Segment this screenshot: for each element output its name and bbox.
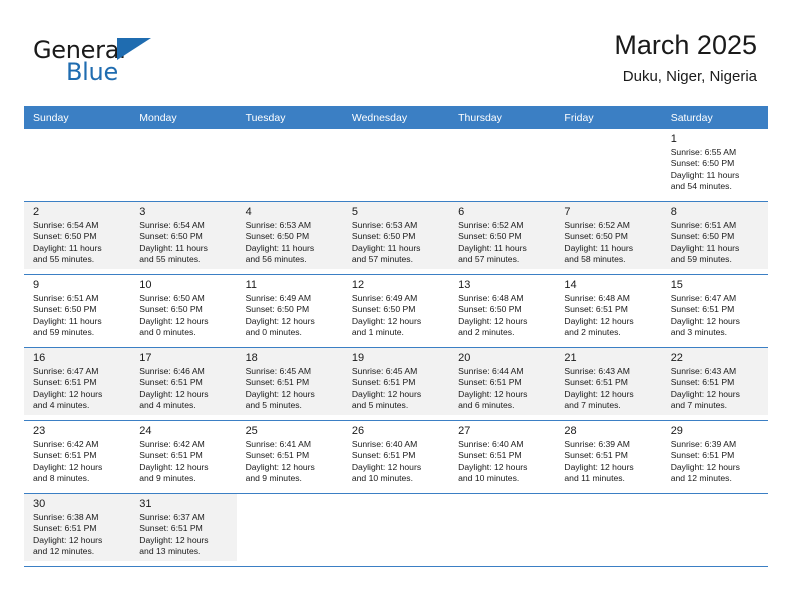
day-cell-content xyxy=(343,494,449,561)
weekday-header-saturday: Saturday xyxy=(662,106,768,129)
calendar-day-cell[interactable]: 20Sunrise: 6:44 AMSunset: 6:51 PMDayligh… xyxy=(449,348,555,421)
weekday-header-friday: Friday xyxy=(555,106,661,129)
weekday-header-thursday: Thursday xyxy=(449,106,555,129)
calendar-day-cell-empty xyxy=(343,129,449,202)
day-sunrise-text: Sunrise: 6:40 AM xyxy=(458,439,549,450)
day-sunrise-text: Sunrise: 6:41 AM xyxy=(246,439,337,450)
day-daylight-text: and 8 minutes. xyxy=(33,473,124,484)
day-sun-info: Sunrise: 6:55 AMSunset: 6:50 PMDaylight:… xyxy=(671,147,762,193)
day-daylight-text: Daylight: 11 hours xyxy=(139,243,230,254)
day-sunrise-text: Sunrise: 6:43 AM xyxy=(564,366,655,377)
day-daylight-text: Daylight: 12 hours xyxy=(139,535,230,546)
day-daylight-text: and 4 minutes. xyxy=(139,400,230,411)
day-cell-content: 1Sunrise: 6:55 AMSunset: 6:50 PMDaylight… xyxy=(662,129,768,196)
day-cell-content: 30Sunrise: 6:38 AMSunset: 6:51 PMDayligh… xyxy=(24,494,130,561)
day-sun-info: Sunrise: 6:37 AMSunset: 6:51 PMDaylight:… xyxy=(139,512,230,558)
day-sunrise-text: Sunrise: 6:40 AM xyxy=(352,439,443,450)
day-sunrise-text: Sunrise: 6:53 AM xyxy=(246,220,337,231)
day-cell-content: 2Sunrise: 6:54 AMSunset: 6:50 PMDaylight… xyxy=(24,202,130,269)
day-number: 29 xyxy=(671,424,762,438)
day-cell-content: 28Sunrise: 6:39 AMSunset: 6:51 PMDayligh… xyxy=(555,421,661,488)
day-sunrise-text: Sunrise: 6:46 AM xyxy=(139,366,230,377)
day-daylight-text: and 5 minutes. xyxy=(246,400,337,411)
day-daylight-text: and 0 minutes. xyxy=(246,327,337,338)
day-daylight-text: Daylight: 12 hours xyxy=(564,462,655,473)
day-sun-info: Sunrise: 6:53 AMSunset: 6:50 PMDaylight:… xyxy=(246,220,337,266)
calendar-day-cell-empty xyxy=(237,494,343,567)
calendar-week-row: 2Sunrise: 6:54 AMSunset: 6:50 PMDaylight… xyxy=(24,202,768,275)
day-sunrise-text: Sunrise: 6:53 AM xyxy=(352,220,443,231)
day-number: 16 xyxy=(33,351,124,365)
day-daylight-text: and 10 minutes. xyxy=(352,473,443,484)
day-sunset-text: Sunset: 6:51 PM xyxy=(671,450,762,461)
day-number: 11 xyxy=(246,278,337,292)
calendar-day-cell[interactable]: 10Sunrise: 6:50 AMSunset: 6:50 PMDayligh… xyxy=(130,275,236,348)
calendar-week-row: 1Sunrise: 6:55 AMSunset: 6:50 PMDaylight… xyxy=(24,129,768,202)
logo-triangle-icon xyxy=(117,38,151,60)
day-daylight-text: and 10 minutes. xyxy=(458,473,549,484)
calendar-day-cell-empty xyxy=(449,494,555,567)
day-daylight-text: Daylight: 12 hours xyxy=(671,316,762,327)
day-cell-content: 19Sunrise: 6:45 AMSunset: 6:51 PMDayligh… xyxy=(343,348,449,415)
day-sun-info: Sunrise: 6:44 AMSunset: 6:51 PMDaylight:… xyxy=(458,366,549,412)
day-sunset-text: Sunset: 6:50 PM xyxy=(33,231,124,242)
day-daylight-text: and 5 minutes. xyxy=(352,400,443,411)
day-cell-content: 7Sunrise: 6:52 AMSunset: 6:50 PMDaylight… xyxy=(555,202,661,269)
day-cell-content: 20Sunrise: 6:44 AMSunset: 6:51 PMDayligh… xyxy=(449,348,555,415)
calendar-day-cell[interactable]: 4Sunrise: 6:53 AMSunset: 6:50 PMDaylight… xyxy=(237,202,343,275)
day-cell-content: 10Sunrise: 6:50 AMSunset: 6:50 PMDayligh… xyxy=(130,275,236,342)
day-sun-info: Sunrise: 6:49 AMSunset: 6:50 PMDaylight:… xyxy=(352,293,443,339)
day-daylight-text: Daylight: 12 hours xyxy=(671,389,762,400)
day-sun-info: Sunrise: 6:54 AMSunset: 6:50 PMDaylight:… xyxy=(33,220,124,266)
day-sunset-text: Sunset: 6:51 PM xyxy=(564,304,655,315)
calendar-day-cell[interactable]: 6Sunrise: 6:52 AMSunset: 6:50 PMDaylight… xyxy=(449,202,555,275)
day-sunrise-text: Sunrise: 6:49 AM xyxy=(352,293,443,304)
day-sunrise-text: Sunrise: 6:39 AM xyxy=(564,439,655,450)
calendar-day-cell[interactable]: 3Sunrise: 6:54 AMSunset: 6:50 PMDaylight… xyxy=(130,202,236,275)
day-sunset-text: Sunset: 6:50 PM xyxy=(352,231,443,242)
day-daylight-text: Daylight: 12 hours xyxy=(671,462,762,473)
day-cell-content: 22Sunrise: 6:43 AMSunset: 6:51 PMDayligh… xyxy=(662,348,768,415)
day-daylight-text: and 9 minutes. xyxy=(139,473,230,484)
calendar-week-row: 30Sunrise: 6:38 AMSunset: 6:51 PMDayligh… xyxy=(24,494,768,567)
calendar-day-cell-empty xyxy=(662,494,768,567)
day-cell-content xyxy=(662,494,768,561)
day-number: 6 xyxy=(458,205,549,219)
logo-text-blue: Blue xyxy=(66,58,118,86)
day-sunrise-text: Sunrise: 6:47 AM xyxy=(33,366,124,377)
day-daylight-text: Daylight: 11 hours xyxy=(671,170,762,181)
day-cell-content: 11Sunrise: 6:49 AMSunset: 6:50 PMDayligh… xyxy=(237,275,343,342)
day-daylight-text: Daylight: 12 hours xyxy=(33,535,124,546)
day-sunrise-text: Sunrise: 6:54 AM xyxy=(139,220,230,231)
day-cell-content xyxy=(449,129,555,196)
day-sun-info: Sunrise: 6:51 AMSunset: 6:50 PMDaylight:… xyxy=(671,220,762,266)
calendar-day-cell[interactable]: 27Sunrise: 6:40 AMSunset: 6:51 PMDayligh… xyxy=(449,421,555,494)
day-number: 20 xyxy=(458,351,549,365)
day-sun-info: Sunrise: 6:46 AMSunset: 6:51 PMDaylight:… xyxy=(139,366,230,412)
day-cell-content: 14Sunrise: 6:48 AMSunset: 6:51 PMDayligh… xyxy=(555,275,661,342)
calendar-day-cell[interactable]: 13Sunrise: 6:48 AMSunset: 6:50 PMDayligh… xyxy=(449,275,555,348)
day-sunrise-text: Sunrise: 6:52 AM xyxy=(458,220,549,231)
day-sun-info: Sunrise: 6:38 AMSunset: 6:51 PMDaylight:… xyxy=(33,512,124,558)
day-sunrise-text: Sunrise: 6:44 AM xyxy=(458,366,549,377)
day-number: 18 xyxy=(246,351,337,365)
day-sunset-text: Sunset: 6:51 PM xyxy=(33,450,124,461)
day-daylight-text: and 12 minutes. xyxy=(671,473,762,484)
calendar-day-cell[interactable]: 16Sunrise: 6:47 AMSunset: 6:51 PMDayligh… xyxy=(24,348,130,421)
day-sunset-text: Sunset: 6:50 PM xyxy=(671,158,762,169)
calendar-day-cell[interactable]: 26Sunrise: 6:40 AMSunset: 6:51 PMDayligh… xyxy=(343,421,449,494)
day-daylight-text: Daylight: 12 hours xyxy=(246,389,337,400)
weekday-header-wednesday: Wednesday xyxy=(343,106,449,129)
day-cell-content: 15Sunrise: 6:47 AMSunset: 6:51 PMDayligh… xyxy=(662,275,768,342)
day-sunset-text: Sunset: 6:51 PM xyxy=(246,450,337,461)
day-cell-content: 4Sunrise: 6:53 AMSunset: 6:50 PMDaylight… xyxy=(237,202,343,269)
title-block: March 2025 Duku, Niger, Nigeria xyxy=(614,28,757,88)
day-sun-info: Sunrise: 6:40 AMSunset: 6:51 PMDaylight:… xyxy=(458,439,549,485)
day-sunset-text: Sunset: 6:50 PM xyxy=(139,304,230,315)
calendar-day-cell[interactable]: 28Sunrise: 6:39 AMSunset: 6:51 PMDayligh… xyxy=(555,421,661,494)
day-daylight-text: Daylight: 12 hours xyxy=(352,462,443,473)
calendar-day-cell-empty xyxy=(555,129,661,202)
day-daylight-text: and 7 minutes. xyxy=(564,400,655,411)
calendar-week-row: 9Sunrise: 6:51 AMSunset: 6:50 PMDaylight… xyxy=(24,275,768,348)
page-header: General Blue March 2025 Duku, Niger, Nig… xyxy=(33,28,757,100)
day-cell-content: 13Sunrise: 6:48 AMSunset: 6:50 PMDayligh… xyxy=(449,275,555,342)
day-sunset-text: Sunset: 6:51 PM xyxy=(352,450,443,461)
day-daylight-text: and 58 minutes. xyxy=(564,254,655,265)
day-number: 21 xyxy=(564,351,655,365)
day-cell-content: 9Sunrise: 6:51 AMSunset: 6:50 PMDaylight… xyxy=(24,275,130,342)
calendar-day-cell[interactable]: 31Sunrise: 6:37 AMSunset: 6:51 PMDayligh… xyxy=(130,494,236,567)
day-daylight-text: Daylight: 12 hours xyxy=(458,462,549,473)
calendar-day-cell[interactable]: 1Sunrise: 6:55 AMSunset: 6:50 PMDaylight… xyxy=(662,129,768,202)
calendar-day-cell[interactable]: 22Sunrise: 6:43 AMSunset: 6:51 PMDayligh… xyxy=(662,348,768,421)
calendar-day-cell[interactable]: 5Sunrise: 6:53 AMSunset: 6:50 PMDaylight… xyxy=(343,202,449,275)
day-number: 9 xyxy=(33,278,124,292)
day-sun-info: Sunrise: 6:53 AMSunset: 6:50 PMDaylight:… xyxy=(352,220,443,266)
page-title: March 2025 xyxy=(614,28,757,62)
day-daylight-text: and 2 minutes. xyxy=(458,327,549,338)
day-sunrise-text: Sunrise: 6:45 AM xyxy=(246,366,337,377)
day-sunrise-text: Sunrise: 6:49 AM xyxy=(246,293,337,304)
day-cell-content: 27Sunrise: 6:40 AMSunset: 6:51 PMDayligh… xyxy=(449,421,555,488)
day-sunset-text: Sunset: 6:51 PM xyxy=(33,523,124,534)
day-number: 26 xyxy=(352,424,443,438)
calendar-day-cell[interactable]: 12Sunrise: 6:49 AMSunset: 6:50 PMDayligh… xyxy=(343,275,449,348)
day-cell-content xyxy=(555,494,661,561)
day-cell-content: 29Sunrise: 6:39 AMSunset: 6:51 PMDayligh… xyxy=(662,421,768,488)
day-sunrise-text: Sunrise: 6:38 AM xyxy=(33,512,124,523)
weekday-header-sunday: Sunday xyxy=(24,106,130,129)
day-sunset-text: Sunset: 6:50 PM xyxy=(352,304,443,315)
day-daylight-text: and 2 minutes. xyxy=(564,327,655,338)
day-sun-info: Sunrise: 6:39 AMSunset: 6:51 PMDaylight:… xyxy=(671,439,762,485)
day-daylight-text: Daylight: 12 hours xyxy=(139,389,230,400)
day-sunset-text: Sunset: 6:51 PM xyxy=(458,450,549,461)
calendar-day-cell-empty xyxy=(237,129,343,202)
day-daylight-text: Daylight: 12 hours xyxy=(352,389,443,400)
day-cell-content xyxy=(343,129,449,196)
day-sun-info: Sunrise: 6:45 AMSunset: 6:51 PMDaylight:… xyxy=(246,366,337,412)
day-number: 30 xyxy=(33,497,124,511)
day-sun-info: Sunrise: 6:43 AMSunset: 6:51 PMDaylight:… xyxy=(671,366,762,412)
day-cell-content: 26Sunrise: 6:40 AMSunset: 6:51 PMDayligh… xyxy=(343,421,449,488)
day-cell-content: 24Sunrise: 6:42 AMSunset: 6:51 PMDayligh… xyxy=(130,421,236,488)
day-sunrise-text: Sunrise: 6:37 AM xyxy=(139,512,230,523)
calendar-day-cell-empty xyxy=(343,494,449,567)
day-sun-info: Sunrise: 6:48 AMSunset: 6:50 PMDaylight:… xyxy=(458,293,549,339)
day-cell-content xyxy=(24,129,130,196)
day-sunset-text: Sunset: 6:50 PM xyxy=(33,304,124,315)
day-daylight-text: Daylight: 11 hours xyxy=(564,243,655,254)
day-sunrise-text: Sunrise: 6:42 AM xyxy=(33,439,124,450)
day-sunset-text: Sunset: 6:51 PM xyxy=(246,377,337,388)
day-sunset-text: Sunset: 6:51 PM xyxy=(564,377,655,388)
day-sun-info: Sunrise: 6:45 AMSunset: 6:51 PMDaylight:… xyxy=(352,366,443,412)
day-sun-info: Sunrise: 6:42 AMSunset: 6:51 PMDaylight:… xyxy=(33,439,124,485)
day-daylight-text: Daylight: 11 hours xyxy=(33,243,124,254)
day-daylight-text: Daylight: 12 hours xyxy=(458,316,549,327)
day-number: 7 xyxy=(564,205,655,219)
calendar-day-cell[interactable]: 19Sunrise: 6:45 AMSunset: 6:51 PMDayligh… xyxy=(343,348,449,421)
day-daylight-text: Daylight: 12 hours xyxy=(352,316,443,327)
day-sunset-text: Sunset: 6:51 PM xyxy=(671,377,762,388)
calendar-day-cell[interactable]: 15Sunrise: 6:47 AMSunset: 6:51 PMDayligh… xyxy=(662,275,768,348)
calendar-day-cell[interactable]: 8Sunrise: 6:51 AMSunset: 6:50 PMDaylight… xyxy=(662,202,768,275)
day-sun-info: Sunrise: 6:48 AMSunset: 6:51 PMDaylight:… xyxy=(564,293,655,339)
day-sun-info: Sunrise: 6:40 AMSunset: 6:51 PMDaylight:… xyxy=(352,439,443,485)
calendar-day-cell[interactable]: 30Sunrise: 6:38 AMSunset: 6:51 PMDayligh… xyxy=(24,494,130,567)
day-number: 5 xyxy=(352,205,443,219)
day-daylight-text: and 1 minute. xyxy=(352,327,443,338)
day-number: 19 xyxy=(352,351,443,365)
day-daylight-text: and 55 minutes. xyxy=(139,254,230,265)
day-daylight-text: and 12 minutes. xyxy=(33,546,124,557)
calendar-week-row: 23Sunrise: 6:42 AMSunset: 6:51 PMDayligh… xyxy=(24,421,768,494)
day-number: 23 xyxy=(33,424,124,438)
day-daylight-text: and 4 minutes. xyxy=(33,400,124,411)
calendar-day-cell[interactable]: 9Sunrise: 6:51 AMSunset: 6:50 PMDaylight… xyxy=(24,275,130,348)
day-daylight-text: and 54 minutes. xyxy=(671,181,762,192)
calendar-page: General Blue March 2025 Duku, Niger, Nig… xyxy=(0,0,792,612)
day-sunset-text: Sunset: 6:50 PM xyxy=(139,231,230,242)
day-sun-info: Sunrise: 6:50 AMSunset: 6:50 PMDaylight:… xyxy=(139,293,230,339)
calendar-day-cell[interactable]: 7Sunrise: 6:52 AMSunset: 6:50 PMDaylight… xyxy=(555,202,661,275)
day-sunset-text: Sunset: 6:50 PM xyxy=(564,231,655,242)
day-sun-info: Sunrise: 6:47 AMSunset: 6:51 PMDaylight:… xyxy=(671,293,762,339)
day-sunrise-text: Sunrise: 6:50 AM xyxy=(139,293,230,304)
day-cell-content: 8Sunrise: 6:51 AMSunset: 6:50 PMDaylight… xyxy=(662,202,768,269)
day-cell-content xyxy=(555,129,661,196)
day-cell-content: 25Sunrise: 6:41 AMSunset: 6:51 PMDayligh… xyxy=(237,421,343,488)
day-number: 24 xyxy=(139,424,230,438)
calendar-day-cell[interactable]: 21Sunrise: 6:43 AMSunset: 6:51 PMDayligh… xyxy=(555,348,661,421)
day-sun-info: Sunrise: 6:52 AMSunset: 6:50 PMDaylight:… xyxy=(458,220,549,266)
day-daylight-text: Daylight: 12 hours xyxy=(33,462,124,473)
day-sunrise-text: Sunrise: 6:47 AM xyxy=(671,293,762,304)
day-cell-content: 3Sunrise: 6:54 AMSunset: 6:50 PMDaylight… xyxy=(130,202,236,269)
day-daylight-text: Daylight: 11 hours xyxy=(246,243,337,254)
day-cell-content: 12Sunrise: 6:49 AMSunset: 6:50 PMDayligh… xyxy=(343,275,449,342)
calendar-day-cell[interactable]: 14Sunrise: 6:48 AMSunset: 6:51 PMDayligh… xyxy=(555,275,661,348)
calendar-day-cell[interactable]: 11Sunrise: 6:49 AMSunset: 6:50 PMDayligh… xyxy=(237,275,343,348)
calendar-day-cell[interactable]: 24Sunrise: 6:42 AMSunset: 6:51 PMDayligh… xyxy=(130,421,236,494)
calendar-day-cell[interactable]: 29Sunrise: 6:39 AMSunset: 6:51 PMDayligh… xyxy=(662,421,768,494)
day-cell-content: 5Sunrise: 6:53 AMSunset: 6:50 PMDaylight… xyxy=(343,202,449,269)
calendar-day-cell[interactable]: 18Sunrise: 6:45 AMSunset: 6:51 PMDayligh… xyxy=(237,348,343,421)
day-daylight-text: Daylight: 11 hours xyxy=(33,316,124,327)
day-number: 4 xyxy=(246,205,337,219)
day-daylight-text: Daylight: 12 hours xyxy=(246,462,337,473)
day-daylight-text: Daylight: 12 hours xyxy=(246,316,337,327)
day-cell-content: 18Sunrise: 6:45 AMSunset: 6:51 PMDayligh… xyxy=(237,348,343,415)
day-daylight-text: Daylight: 12 hours xyxy=(139,462,230,473)
calendar-day-cell[interactable]: 23Sunrise: 6:42 AMSunset: 6:51 PMDayligh… xyxy=(24,421,130,494)
day-sun-info: Sunrise: 6:41 AMSunset: 6:51 PMDaylight:… xyxy=(246,439,337,485)
day-number: 22 xyxy=(671,351,762,365)
calendar-week-row: 16Sunrise: 6:47 AMSunset: 6:51 PMDayligh… xyxy=(24,348,768,421)
day-sunset-text: Sunset: 6:51 PM xyxy=(139,377,230,388)
day-daylight-text: Daylight: 12 hours xyxy=(458,389,549,400)
day-sunset-text: Sunset: 6:50 PM xyxy=(458,231,549,242)
page-subtitle-location: Duku, Niger, Nigeria xyxy=(614,66,757,88)
day-number: 2 xyxy=(33,205,124,219)
day-sun-info: Sunrise: 6:51 AMSunset: 6:50 PMDaylight:… xyxy=(33,293,124,339)
day-sunset-text: Sunset: 6:51 PM xyxy=(139,523,230,534)
day-sun-info: Sunrise: 6:47 AMSunset: 6:51 PMDaylight:… xyxy=(33,366,124,412)
day-number: 15 xyxy=(671,278,762,292)
day-sunrise-text: Sunrise: 6:48 AM xyxy=(564,293,655,304)
calendar-day-cell[interactable]: 17Sunrise: 6:46 AMSunset: 6:51 PMDayligh… xyxy=(130,348,236,421)
day-cell-content xyxy=(449,494,555,561)
day-sunset-text: Sunset: 6:50 PM xyxy=(671,231,762,242)
day-cell-content xyxy=(237,129,343,196)
day-sunrise-text: Sunrise: 6:52 AM xyxy=(564,220,655,231)
calendar-body: 1Sunrise: 6:55 AMSunset: 6:50 PMDaylight… xyxy=(24,129,768,567)
weekday-header-monday: Monday xyxy=(130,106,236,129)
day-cell-content: 31Sunrise: 6:37 AMSunset: 6:51 PMDayligh… xyxy=(130,494,236,561)
calendar-day-cell[interactable]: 2Sunrise: 6:54 AMSunset: 6:50 PMDaylight… xyxy=(24,202,130,275)
day-sunrise-text: Sunrise: 6:54 AM xyxy=(33,220,124,231)
day-sunset-text: Sunset: 6:51 PM xyxy=(458,377,549,388)
day-number: 8 xyxy=(671,205,762,219)
day-cell-content: 23Sunrise: 6:42 AMSunset: 6:51 PMDayligh… xyxy=(24,421,130,488)
day-sunrise-text: Sunrise: 6:51 AM xyxy=(671,220,762,231)
day-cell-content: 16Sunrise: 6:47 AMSunset: 6:51 PMDayligh… xyxy=(24,348,130,415)
day-number: 14 xyxy=(564,278,655,292)
day-sunset-text: Sunset: 6:50 PM xyxy=(246,304,337,315)
day-daylight-text: Daylight: 12 hours xyxy=(139,316,230,327)
day-number: 3 xyxy=(139,205,230,219)
weekday-header-tuesday: Tuesday xyxy=(237,106,343,129)
day-sunrise-text: Sunrise: 6:45 AM xyxy=(352,366,443,377)
day-sun-info: Sunrise: 6:49 AMSunset: 6:50 PMDaylight:… xyxy=(246,293,337,339)
day-sun-info: Sunrise: 6:42 AMSunset: 6:51 PMDaylight:… xyxy=(139,439,230,485)
day-daylight-text: and 7 minutes. xyxy=(671,400,762,411)
day-sunset-text: Sunset: 6:50 PM xyxy=(246,231,337,242)
day-sunset-text: Sunset: 6:51 PM xyxy=(352,377,443,388)
day-sun-info: Sunrise: 6:54 AMSunset: 6:50 PMDaylight:… xyxy=(139,220,230,266)
general-blue-logo[interactable]: General Blue xyxy=(33,36,233,92)
calendar-day-cell[interactable]: 25Sunrise: 6:41 AMSunset: 6:51 PMDayligh… xyxy=(237,421,343,494)
day-daylight-text: and 3 minutes. xyxy=(671,327,762,338)
day-cell-content: 17Sunrise: 6:46 AMSunset: 6:51 PMDayligh… xyxy=(130,348,236,415)
day-daylight-text: Daylight: 11 hours xyxy=(671,243,762,254)
day-sunset-text: Sunset: 6:50 PM xyxy=(458,304,549,315)
day-sunrise-text: Sunrise: 6:51 AM xyxy=(33,293,124,304)
day-sunset-text: Sunset: 6:51 PM xyxy=(671,304,762,315)
day-daylight-text: and 6 minutes. xyxy=(458,400,549,411)
calendar-day-cell-empty xyxy=(555,494,661,567)
day-daylight-text: and 9 minutes. xyxy=(246,473,337,484)
day-cell-content xyxy=(130,129,236,196)
day-sun-info: Sunrise: 6:52 AMSunset: 6:50 PMDaylight:… xyxy=(564,220,655,266)
day-number: 28 xyxy=(564,424,655,438)
day-daylight-text: and 59 minutes. xyxy=(671,254,762,265)
day-number: 12 xyxy=(352,278,443,292)
day-sunset-text: Sunset: 6:51 PM xyxy=(564,450,655,461)
day-number: 10 xyxy=(139,278,230,292)
day-cell-content: 21Sunrise: 6:43 AMSunset: 6:51 PMDayligh… xyxy=(555,348,661,415)
day-daylight-text: and 59 minutes. xyxy=(33,327,124,338)
day-daylight-text: and 56 minutes. xyxy=(246,254,337,265)
calendar-day-cell-empty xyxy=(24,129,130,202)
calendar-header-row: Sunday Monday Tuesday Wednesday Thursday… xyxy=(24,106,768,129)
day-number: 17 xyxy=(139,351,230,365)
day-daylight-text: and 57 minutes. xyxy=(352,254,443,265)
calendar-day-cell-empty xyxy=(449,129,555,202)
calendar-grid: Sunday Monday Tuesday Wednesday Thursday… xyxy=(24,106,768,567)
day-number: 31 xyxy=(139,497,230,511)
day-number: 25 xyxy=(246,424,337,438)
day-sun-info: Sunrise: 6:43 AMSunset: 6:51 PMDaylight:… xyxy=(564,366,655,412)
day-sunrise-text: Sunrise: 6:39 AM xyxy=(671,439,762,450)
day-sunrise-text: Sunrise: 6:48 AM xyxy=(458,293,549,304)
day-cell-content xyxy=(237,494,343,561)
day-sunset-text: Sunset: 6:51 PM xyxy=(139,450,230,461)
day-daylight-text: Daylight: 11 hours xyxy=(458,243,549,254)
day-number: 13 xyxy=(458,278,549,292)
day-daylight-text: Daylight: 12 hours xyxy=(564,389,655,400)
day-number: 1 xyxy=(671,132,762,146)
day-daylight-text: Daylight: 12 hours xyxy=(33,389,124,400)
day-sunrise-text: Sunrise: 6:55 AM xyxy=(671,147,762,158)
day-number: 27 xyxy=(458,424,549,438)
day-sunrise-text: Sunrise: 6:43 AM xyxy=(671,366,762,377)
day-daylight-text: Daylight: 12 hours xyxy=(564,316,655,327)
calendar-day-cell-empty xyxy=(130,129,236,202)
day-sunrise-text: Sunrise: 6:42 AM xyxy=(139,439,230,450)
day-sunset-text: Sunset: 6:51 PM xyxy=(33,377,124,388)
day-daylight-text: and 0 minutes. xyxy=(139,327,230,338)
day-daylight-text: Daylight: 11 hours xyxy=(352,243,443,254)
day-daylight-text: and 57 minutes. xyxy=(458,254,549,265)
day-daylight-text: and 13 minutes. xyxy=(139,546,230,557)
day-cell-content: 6Sunrise: 6:52 AMSunset: 6:50 PMDaylight… xyxy=(449,202,555,269)
day-daylight-text: and 55 minutes. xyxy=(33,254,124,265)
day-sun-info: Sunrise: 6:39 AMSunset: 6:51 PMDaylight:… xyxy=(564,439,655,485)
day-daylight-text: and 11 minutes. xyxy=(564,473,655,484)
